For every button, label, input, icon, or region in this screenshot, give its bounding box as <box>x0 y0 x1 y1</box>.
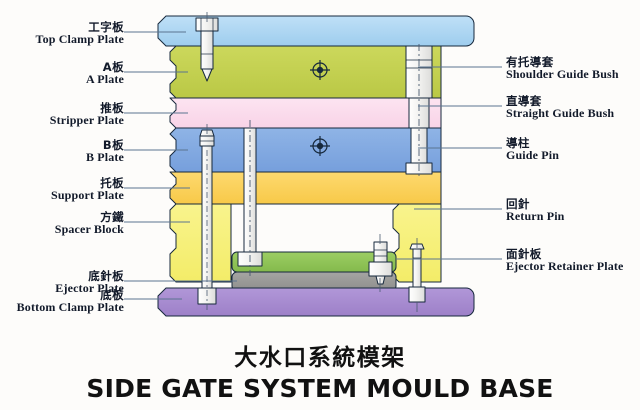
label-guide-pin-en: Guide Pin <box>506 149 559 162</box>
diagram-title-cn: 大水口系統模架 <box>0 344 640 373</box>
diagram-title-en: SIDE GATE SYSTEM MOULD BASE <box>0 373 640 404</box>
label-ejector-retainer-plate: 面針板 Ejector Retainer Plate <box>506 248 623 273</box>
diagram-title: 大水口系統模架 SIDE GATE SYSTEM MOULD BASE <box>0 344 640 404</box>
label-straight-guide-bush: 直導套 Straight Guide Bush <box>506 95 614 120</box>
label-guide-pin: 導柱 Guide Pin <box>506 137 559 162</box>
label-support-plate: 托板 Support Plate <box>0 177 124 202</box>
label-return-pin-en: Return Pin <box>506 210 565 223</box>
label-a-plate-en: A Plate <box>0 73 124 86</box>
label-support-plate-en: Support Plate <box>0 189 124 202</box>
label-stripper-plate: 推板 Stripper Plate <box>0 102 124 127</box>
label-return-pin: 回針 Return Pin <box>506 198 565 223</box>
mould-base-diagram: 工字板 Top Clamp Plate A板 A Plate 推板 Stripp… <box>0 0 640 410</box>
label-b-plate-en: B Plate <box>0 151 124 164</box>
label-shoulder-guide-bush-en: Shoulder Guide Bush <box>506 68 619 81</box>
label-shoulder-guide-bush: 有托導套 Shoulder Guide Bush <box>506 56 619 81</box>
spacer-block-left <box>170 204 231 282</box>
label-spacer-block-en: Spacer Block <box>0 223 124 236</box>
label-bottom-clamp-plate: 底板 Bottom Clamp Plate <box>0 289 124 314</box>
label-spacer-block: 方鐵 Spacer Block <box>0 211 124 236</box>
plate-stripper <box>170 98 441 128</box>
label-top-clamp-plate: 工字板 Top Clamp Plate <box>0 21 124 46</box>
label-straight-guide-bush-en: Straight Guide Bush <box>506 107 614 120</box>
label-stripper-plate-en: Stripper Plate <box>0 114 124 127</box>
label-bottom-clamp-plate-en: Bottom Clamp Plate <box>0 301 124 314</box>
label-b-plate: B板 B Plate <box>0 139 124 164</box>
label-a-plate: A板 A Plate <box>0 61 124 86</box>
label-ejector-retainer-plate-en: Ejector Retainer Plate <box>506 260 623 273</box>
label-top-clamp-plate-en: Top Clamp Plate <box>0 33 124 46</box>
